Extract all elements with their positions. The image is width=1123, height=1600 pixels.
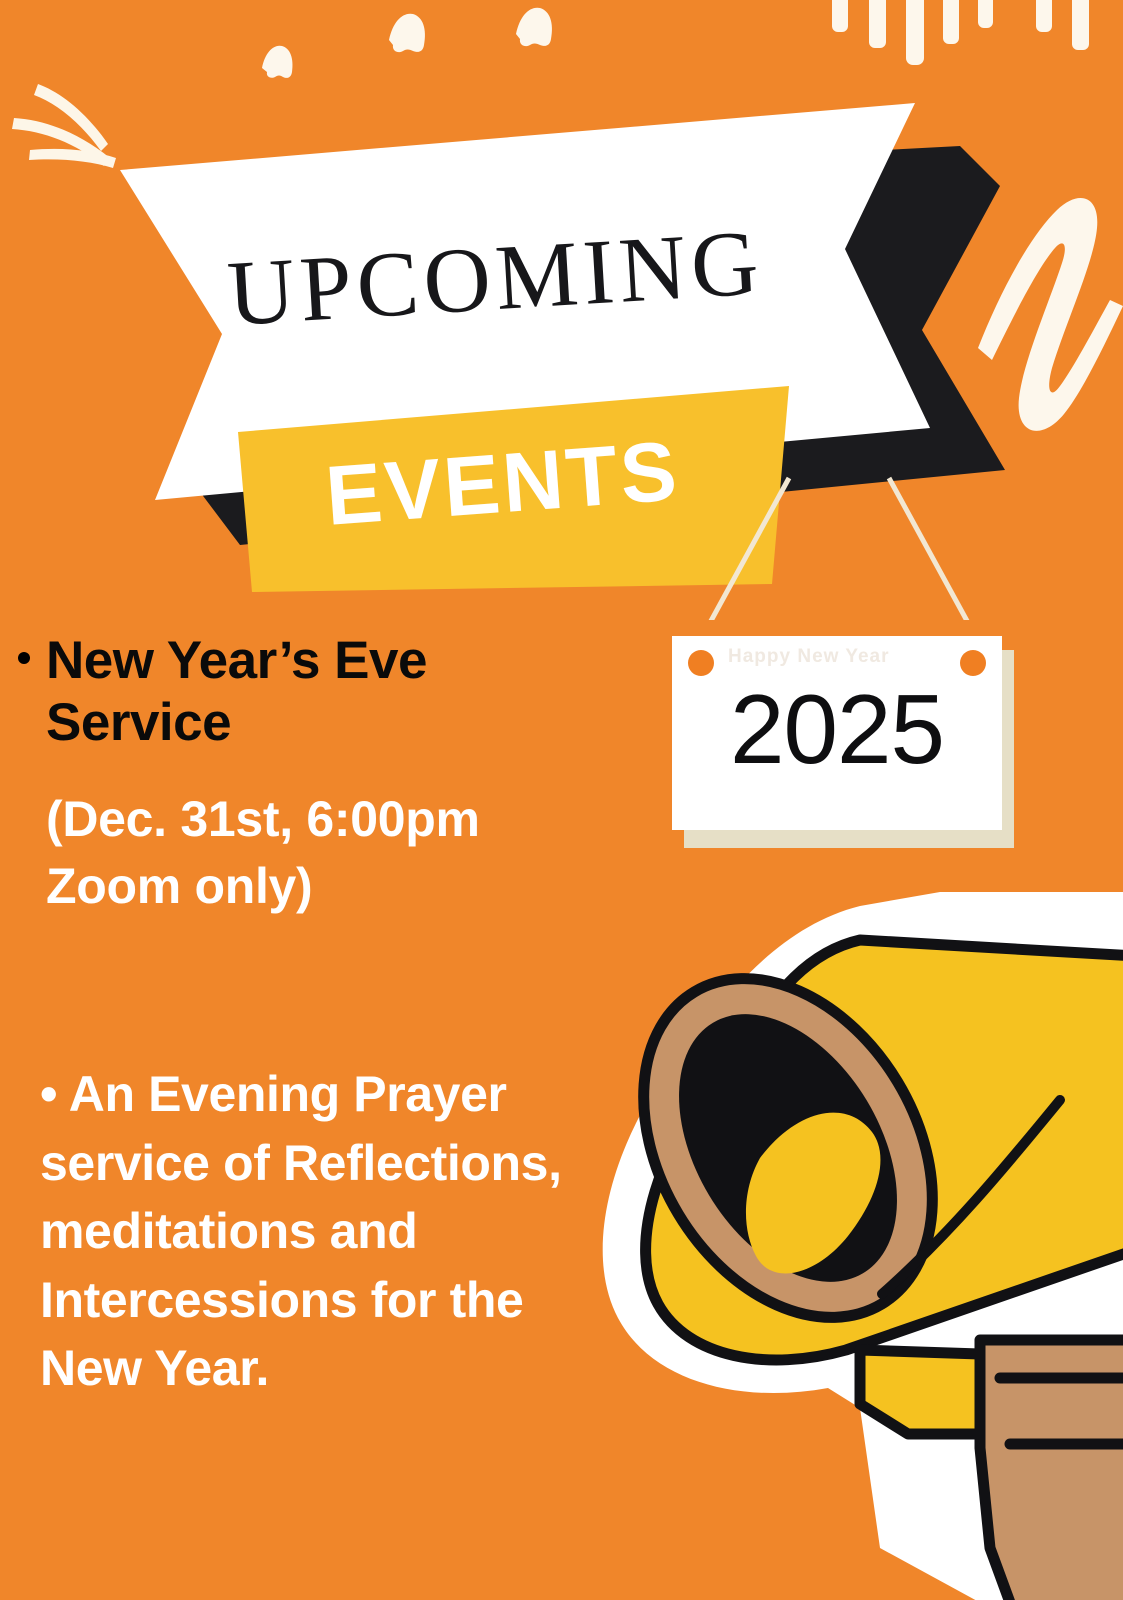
event-title: New Year’s Eve Service xyxy=(46,630,546,754)
event-description: • An Evening Prayer service of Reflectio… xyxy=(40,1060,570,1403)
year-sign-board: Happy New Year 2025 xyxy=(672,636,1002,830)
megaphone-illustration xyxy=(560,848,1123,1600)
grommet-right-icon xyxy=(960,650,986,676)
year-sign: Happy New Year 2025 xyxy=(672,636,1020,856)
header-banner: UPCOMING EVENTS xyxy=(0,0,1123,620)
megaphone-neck xyxy=(860,1350,980,1434)
bullet-icon xyxy=(18,652,30,664)
year-sign-ghost-text: Happy New Year xyxy=(728,646,890,668)
event-detail: (Dec. 31st, 6:00pm Zoom only) xyxy=(46,786,486,919)
poster-canvas: UPCOMING EVENTS Happy New Year 2025 xyxy=(0,0,1123,1600)
year-sign-value: 2025 xyxy=(672,680,1002,778)
grommet-left-icon xyxy=(688,650,714,676)
